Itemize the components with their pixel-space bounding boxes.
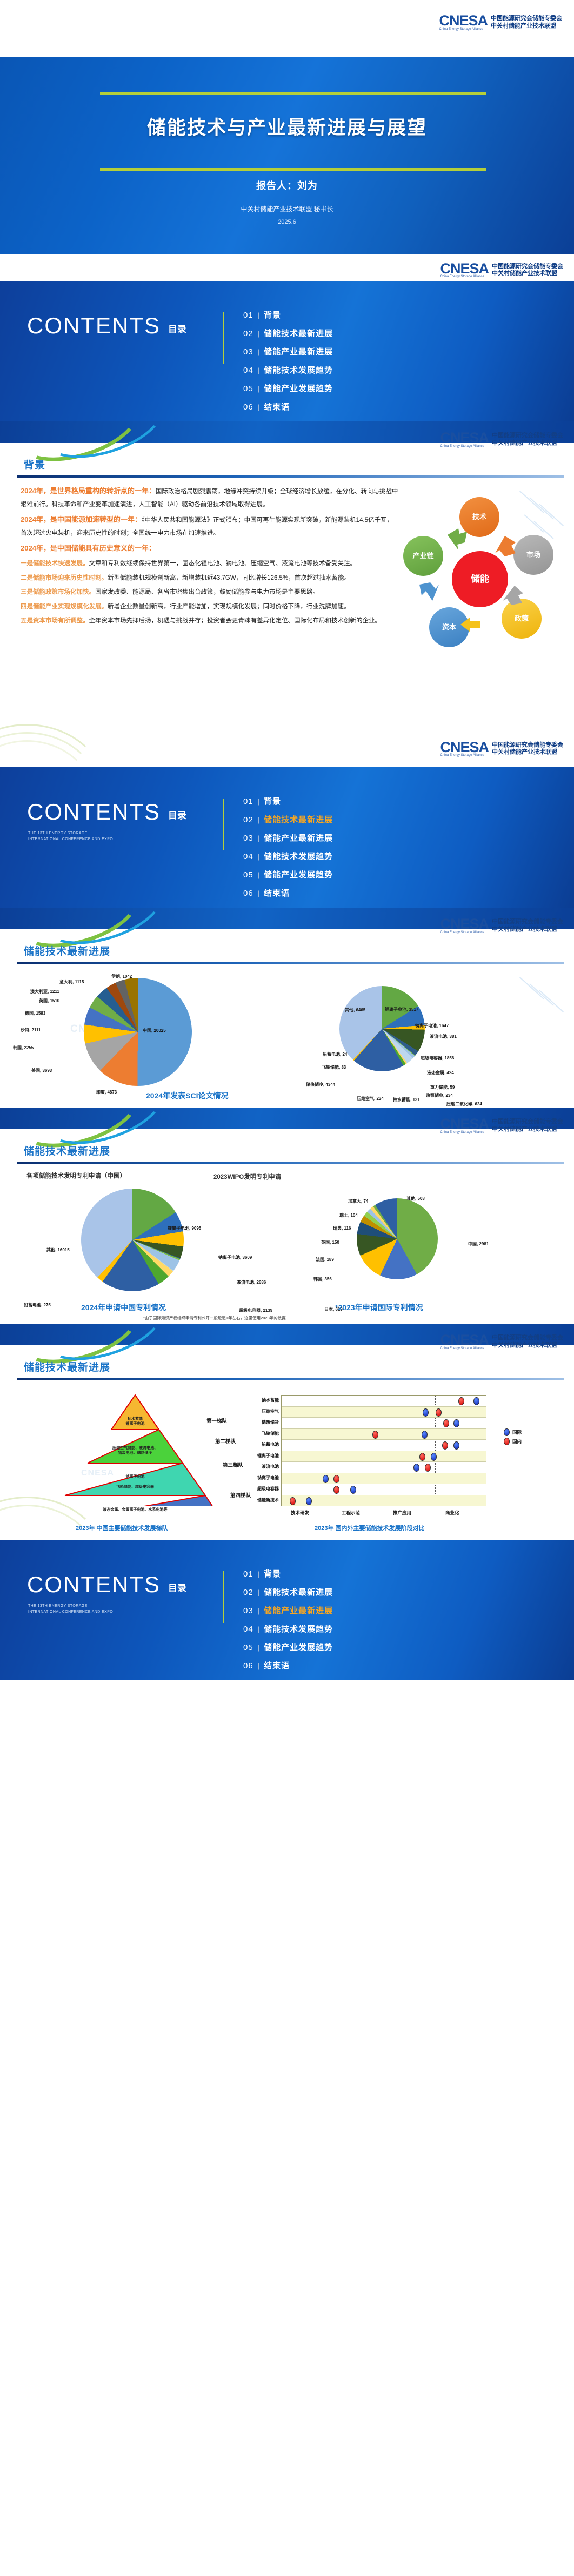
cnesa-logo: CNESAChina Energy Storage Alliance 中国能源研… <box>440 1117 563 1134</box>
presentation-date: 2025.6 <box>0 219 574 225</box>
toc-item-04[interactable]: 04 | 储能技术发展趋势 <box>243 850 333 862</box>
tech-progress-slide-2: CNESAChina Energy Storage Alliance 中国能源研… <box>0 1108 574 1324</box>
toc-label: 储能技术最新进展 <box>264 1586 333 1598</box>
pie-label-lead-acid: 铅蓄电池, 24 <box>323 1051 347 1057</box>
pie-label-switzerland: 瑞士, 104 <box>339 1212 358 1218</box>
green-arc-decoration <box>0 1475 114 1540</box>
circle-capital: 资本 <box>429 607 469 647</box>
point-body: 国家发改委、能源局、各省市密集出台政策，鼓励储能参与电力市场是主要思路。 <box>95 589 319 595</box>
toc-item-02[interactable]: 02 | 储能技术最新进展 <box>243 814 333 825</box>
pie-label-lead-acid: 铅蓄电池, 275 <box>24 1302 51 1308</box>
dot-international <box>423 1408 429 1417</box>
point-lead: 五是资本市场有所调整。 <box>21 618 89 624</box>
contents-slide-3: CONTENTS 目录 THE 13TH ENERGY STORAGE INTE… <box>0 1540 574 1680</box>
pie-label-thermal: 储热储冷, 4344 <box>306 1082 335 1088</box>
contents-subtitle: THE 13TH ENERGY STORAGE INTERNATIONAL CO… <box>28 831 113 842</box>
dot-international <box>323 1475 329 1483</box>
pie-label-heat-pump: 热泵储电, 234 <box>426 1092 453 1098</box>
matrix-legend: 国际 国内 <box>500 1424 525 1450</box>
slide-heading: 储能技术最新进展 <box>24 1359 110 1374</box>
toc-separator: | <box>258 1662 259 1670</box>
presenter-affiliation: 中关村储能产业技术联盟 秘书长 <box>0 204 574 213</box>
arc-decoration <box>0 281 130 421</box>
title-rule-bottom <box>100 168 486 171</box>
toc-item-02[interactable]: 02 | 储能技术最新进展 <box>243 1586 333 1598</box>
matrix-row: 超级电容器 <box>282 1484 486 1495</box>
contents-heading: CONTENTS 目录 <box>27 314 186 337</box>
heading-rule <box>17 1378 564 1380</box>
chart-caption-right: 2023年 国内外主要储能技术发展阶段对比 <box>315 1524 425 1532</box>
matrix-row: 抽水蓄能 <box>282 1396 486 1407</box>
toc-number: 06 <box>243 889 253 898</box>
toc-label: 结束语 <box>264 887 290 898</box>
point-body: 新型储能装机规模创新高，新增装机近43.7GW，同比增长126.5%，首次超过抽… <box>108 575 350 581</box>
toc-separator: | <box>258 816 259 824</box>
pie-body <box>81 1189 184 1291</box>
pyramid-tier-2-label: 第二梯队 <box>215 1437 236 1445</box>
pie-label-korea: 韩国, 2255 <box>13 1045 34 1051</box>
point-body: 新增企业数量创新高，行业产能增加，实现规模化发展；同时价格下降，行业洗牌加速。 <box>108 603 350 610</box>
chart-caption-right: *2023年申请国际专利情况 <box>335 1302 423 1313</box>
pie-label-italy: 意大利, 1115 <box>59 979 84 985</box>
toc-label: 储能产业发展趋势 <box>264 869 333 880</box>
contents-slide-2: CONTENTS 目录 THE 13TH ENERGY STORAGE INTE… <box>0 767 574 908</box>
diagonal-lines-decoration <box>505 492 570 562</box>
pie-label-india: 印度, 4873 <box>96 1089 117 1095</box>
toc-item-06[interactable]: 06 | 结束语 <box>243 401 333 412</box>
toc-number: 06 <box>243 403 253 412</box>
matrix-row-label: 超级电容器 <box>257 1486 279 1492</box>
tech-progress-slide-1: CNESAChina Energy Storage Alliance 中国能源研… <box>0 908 574 1108</box>
dot-domestic <box>443 1419 449 1427</box>
pie-label-compressed-air: 压缩空气, 234 <box>357 1096 384 1102</box>
pie-label-australia: 澳大利亚, 1211 <box>30 989 59 995</box>
toc-separator: | <box>258 853 259 861</box>
point-body: 文章和专利数继续保持世界第一，固态化锂电池、钠电池、压缩空气、液流电池等技术备受… <box>89 560 357 567</box>
cnesa-logo: CNESAChina Energy Storage Alliance 中国能源研… <box>440 1333 563 1350</box>
heading-rule <box>17 962 564 964</box>
dot-domestic <box>442 1441 448 1450</box>
dot-international <box>422 1431 428 1439</box>
toc-item-04[interactable]: 04 | 储能技术发展趋势 <box>243 364 333 375</box>
toc-label: 背景 <box>264 1568 281 1579</box>
matrix-x-label-0: 技术研发 <box>291 1510 309 1516</box>
pie-label-flow-battery: 液流电池, 381 <box>430 1034 457 1039</box>
contents-divider <box>223 312 224 364</box>
background-slide: CNESA China Energy Storage Alliance 中国能源… <box>0 421 574 767</box>
background-body-text: 2024年，是世界格局重构的转折点的一年：国际政治格局剧烈震荡，地缘冲突持续升级… <box>21 484 399 629</box>
paragraph-lead: 2024年，是中国能源加速转型的一年： <box>21 515 142 524</box>
toc-number: 04 <box>243 852 253 861</box>
toc-number: 05 <box>243 870 253 880</box>
matrix-row: 压缩空气 <box>282 1407 486 1418</box>
toc-separator: | <box>258 1625 259 1633</box>
matrix-row-label: 液流电池 <box>262 1464 279 1470</box>
background-point-1: 一是储能技术快速发展。文章和专利数继续保持世界第一，固态化锂电池、钠电池、压缩空… <box>21 558 399 571</box>
background-paragraph-1: 2024年，是世界格局重构的转折点的一年：国际政治格局剧烈震荡，地缘冲突持续升级… <box>21 484 399 511</box>
dot-domestic <box>436 1408 442 1417</box>
toc-label: 储能技术最新进展 <box>264 814 333 825</box>
toc-number: 02 <box>243 1588 253 1597</box>
toc-number: 05 <box>243 1643 253 1652</box>
toc-number: 02 <box>243 329 253 338</box>
cnesa-logo: CNESA China Energy Storage Alliance 中国能源… <box>440 741 563 757</box>
dot-international <box>306 1497 312 1505</box>
pie-label-pumped-hydro: 抽水蓄能, 131 <box>393 1097 420 1103</box>
contents-word: CONTENTS <box>27 1573 161 1596</box>
cnesa-chinese-name: 中国能源研究会储能专委会 中关村储能产业技术联盟 <box>492 1118 563 1133</box>
pyramid-tier-1-items: 抽水蓄能 锂离子电池 <box>43 1413 227 1430</box>
cnesa-chinese-name: 中国能源研究会储能专委会 中关村储能产业技术联盟 <box>492 432 563 447</box>
pie-label-france: 法国, 189 <box>316 1257 334 1263</box>
toc-item-04[interactable]: 04 | 储能技术发展趋势 <box>243 1623 333 1634</box>
matrix-row: 储热储冷 <box>282 1418 486 1429</box>
pie-label-co2: 压缩二氧化碳, 624 <box>446 1101 482 1107</box>
pie-label-sweden: 瑞典, 116 <box>333 1225 351 1231</box>
toc-number: 06 <box>243 1661 253 1671</box>
cnesa-logo: CNESAChina Energy Storage Alliance 中国能源研… <box>440 917 563 934</box>
toc-item-02[interactable]: 02 | 储能技术最新进展 <box>243 327 333 339</box>
cnesa-logo: CNESA China Energy Storage Alliance 中国能源… <box>439 14 562 31</box>
pie-label-flow-battery: 液流电池, 2686 <box>237 1279 266 1285</box>
contents-word: CONTENTS <box>27 801 161 823</box>
wave-blue-arc <box>35 421 171 471</box>
toc-separator: | <box>258 403 259 411</box>
pie-label-liquid-metal: 液态金属, 424 <box>427 1070 454 1076</box>
paragraph-lead: 2024年，是中国储能具有历史意义的一年： <box>21 544 156 552</box>
matrix-row-label: 压缩空气 <box>262 1408 279 1414</box>
toc-separator: | <box>258 797 259 806</box>
chart-caption-left: 2024年申请中国专利情况 <box>81 1302 166 1313</box>
toc-separator: | <box>258 348 259 356</box>
toc-label: 结束语 <box>264 401 290 412</box>
toc-number: 03 <box>243 834 253 843</box>
toc-item-06[interactable]: 06 | 结束语 <box>243 1660 333 1671</box>
dot-international <box>453 1441 459 1450</box>
page-title: 储能技术与产业最新进展与展望 <box>0 112 574 140</box>
chart-caption: 2024年发表SCI论文情况 <box>146 1090 228 1101</box>
pie-label-uk: 英国, 1510 <box>39 998 59 1004</box>
pie-label-uk: 英国, 150 <box>321 1239 339 1245</box>
table-of-contents: 01 | 背景 02 | 储能技术最新进展 03 | 储能产业最新进展 04 |… <box>243 309 333 419</box>
matrix-row: 储能新技术 <box>282 1495 486 1507</box>
pyramid-tier-4-label: 第四梯队 <box>230 1491 251 1499</box>
toc-label: 结束语 <box>264 1660 290 1671</box>
chart-footnote: *由于国际知识产权组织申请专利公开一般延迟1年左右，这里使用2023年的数据 <box>143 1315 286 1321</box>
dot-domestic <box>290 1497 296 1505</box>
cnesa-chinese-name: 中国能源研究会储能专委会 中关村储能产业技术联盟 <box>492 263 563 278</box>
circle-technology: 技术 <box>459 497 499 537</box>
matrix-row: 飞轮储能 <box>282 1429 486 1440</box>
pie-label-china: 中国, 2981 <box>468 1241 489 1247</box>
toc-label: 储能技术发展趋势 <box>264 1623 333 1634</box>
legend-label: 国际 <box>512 1429 522 1435</box>
cnesa-wordmark: CNESAChina Energy Storage Alliance <box>440 1333 489 1350</box>
point-body: 全年资本市场先抑后扬，机遇与挑战并存；投资者会更青睐有差异化定位、国际化布局和技… <box>89 618 382 624</box>
contents-subtitle: THE 13TH ENERGY STORAGE INTERNATIONAL CO… <box>28 1604 113 1615</box>
dot-international <box>350 1486 356 1494</box>
toc-label: 储能产业发展趋势 <box>264 1641 333 1653</box>
pie-chart-title: 各项储能技术发明专利申请（中国） <box>0 1171 363 1180</box>
tech-progress-slide-3: CNESAChina Energy Storage Alliance 中国能源研… <box>0 1324 574 1540</box>
toc-label: 储能技术发展趋势 <box>264 850 333 862</box>
toc-label: 背景 <box>264 795 281 807</box>
slide-heading: 储能技术最新进展 <box>24 1143 110 1158</box>
toc-item-05[interactable]: 05 | 储能产业发展趋势 <box>243 1641 333 1653</box>
matrix-row-label: 铅蓄电池 <box>262 1441 279 1447</box>
toc-item-01[interactable]: 01 | 背景 <box>243 1568 333 1579</box>
contents-heading: CONTENTS 目录 <box>27 1573 186 1596</box>
toc-item-03[interactable]: 03 | 储能产业最新进展 <box>243 832 333 843</box>
cnesa-wordmark: CNESA China Energy Storage Alliance <box>440 431 489 448</box>
contents-divider <box>223 1571 224 1623</box>
toc-label: 背景 <box>264 309 281 320</box>
dot-domestic <box>425 1464 431 1472</box>
slide-heading: 背景 <box>24 457 45 472</box>
cnesa-logo: CNESA China Energy Storage Alliance 中国能源… <box>440 262 563 279</box>
cnesa-wordmark: CNESA China Energy Storage Alliance <box>440 262 489 279</box>
pie-label-supercapacitor: 超级电容器, 2139 <box>239 1307 272 1313</box>
dot-international <box>413 1464 419 1472</box>
toc-number: 05 <box>243 384 253 393</box>
cnesa-wordmark: CNESAChina Energy Storage Alliance <box>440 1117 489 1134</box>
pie-label-china: 中国, 20025 <box>143 1028 166 1034</box>
toc-separator: | <box>258 1643 259 1652</box>
diagonal-lines-decoration <box>505 978 570 1048</box>
background-point-4: 四是储能产业实现规模化发展。新增企业数量创新高，行业产能增加，实现规模化发展；同… <box>21 601 399 614</box>
matrix-row: 铅蓄电池 <box>282 1440 486 1451</box>
toc-number: 03 <box>243 1606 253 1615</box>
legend-swatch-blue <box>504 1428 510 1436</box>
background-paragraph-2: 2024年，是中国能源加速转型的一年：《中华人民共和国能源法》正式颁布；中国可再… <box>21 513 399 540</box>
matrix-row-label: 抽水蓄能 <box>262 1397 279 1403</box>
legend-swatch-red <box>504 1438 510 1445</box>
cnesa-chinese-name: 中国能源研究会储能专委会 中关村储能产业技术联盟 <box>492 1334 563 1350</box>
table-of-contents: 01 | 背景 02 | 储能技术最新进展 03 | 储能产业最新进展 04 |… <box>243 1568 333 1678</box>
cnesa-chinese-name: 中国能源研究会储能专委会 中关村储能产业技术联盟 <box>492 742 563 757</box>
circle-policy: 政策 <box>502 599 542 639</box>
dot-domestic <box>372 1431 378 1439</box>
toc-item-05[interactable]: 05 | 储能产业发展趋势 <box>243 869 333 880</box>
cnesa-logo: CNESA China Energy Storage Alliance 中国能源… <box>440 431 563 448</box>
toc-label: 储能产业发展趋势 <box>264 383 333 394</box>
contents-heading: CONTENTS 目录 <box>27 801 186 823</box>
pie-body <box>339 986 425 1071</box>
toc-label: 储能产业最新进展 <box>264 832 333 843</box>
circle-center-storage: 储能 <box>452 551 508 607</box>
toc-number: 01 <box>243 311 253 320</box>
cnesa-wordmark: CNESA China Energy Storage Alliance <box>439 14 488 31</box>
dot-domestic <box>333 1475 339 1483</box>
legend-item-domestic: 国内 <box>504 1438 522 1445</box>
spacer-band-1: CNESA China Energy Storage Alliance 中国能源… <box>0 254 574 281</box>
pie-label-canada: 加拿大, 74 <box>348 1198 368 1204</box>
pyramid-tier-1-label: 第一梯队 <box>206 1417 227 1424</box>
pie-label-na-ion: 钠离子电池, 1647 <box>415 1023 449 1029</box>
toc-label: 储能产业最新进展 <box>264 346 333 357</box>
dot-international <box>431 1453 437 1461</box>
contents-word-cn: 目录 <box>168 1580 186 1596</box>
pyramid-tier-2-items: 压缩空气储能、液流电池、 铅炭电池、储热储冷 <box>43 1441 227 1460</box>
point-lead: 一是储能技术快速发展。 <box>21 560 89 567</box>
toc-separator: | <box>258 330 259 338</box>
pie-label-others: 其他, 508 <box>406 1196 425 1202</box>
toc-number: 01 <box>243 1569 253 1579</box>
matrix-row-label: 飞轮储能 <box>262 1431 279 1437</box>
pie-label-iran: 伊朗, 1042 <box>111 974 132 980</box>
cnesa-chinese-name: 中国能源研究会储能专委会 中关村储能产业技术联盟 <box>491 15 562 30</box>
toc-separator: | <box>258 871 259 879</box>
pyramid-tier-3-label: 第三梯队 <box>223 1461 243 1468</box>
matrix-row-label: 储热储冷 <box>262 1419 279 1425</box>
dot-domestic <box>419 1453 425 1461</box>
toc-number: 04 <box>243 366 253 375</box>
pie-label-saudi: 沙特, 2111 <box>21 1027 41 1033</box>
toc-number: 04 <box>243 1625 253 1634</box>
pie-body <box>357 1198 438 1279</box>
matrix-x-label-2: 推广应用 <box>393 1510 411 1516</box>
pie-label-korea: 韩国, 356 <box>313 1276 332 1282</box>
point-lead: 二是储能市场迎来历史性时刻。 <box>21 575 108 581</box>
toc-item-03[interactable]: 03 | 储能产业最新进展 <box>243 346 333 357</box>
matrix-row-label: 锂离子电池 <box>257 1453 279 1459</box>
toc-separator: | <box>258 1588 259 1596</box>
toc-separator: | <box>258 385 259 393</box>
toc-separator: | <box>258 834 259 842</box>
matrix-row: 液流电池 <box>282 1462 486 1473</box>
legend-item-international: 国际 <box>504 1428 522 1436</box>
matrix-x-label-1: 工程示范 <box>342 1510 360 1516</box>
toc-label: 储能技术发展趋势 <box>264 364 333 375</box>
background-point-2: 二是储能市场迎来历史性时刻。新型储能装机规模创新高，新增装机近43.7GW，同比… <box>21 572 399 585</box>
pie-label-flywheel: 飞轮储能, 83 <box>322 1064 346 1070</box>
pie-label-usa: 美国, 3693 <box>31 1068 52 1074</box>
contents-word-cn: 目录 <box>168 808 186 823</box>
toc-label: 储能产业最新进展 <box>264 1605 333 1616</box>
toc-item-03[interactable]: 03 | 储能产业最新进展 <box>243 1605 333 1616</box>
point-lead: 四是储能产业实现规模化发展。 <box>21 603 108 610</box>
toc-separator: | <box>258 311 259 319</box>
toc-number: 01 <box>243 797 253 806</box>
matrix-row-label: 储能新技术 <box>257 1497 279 1503</box>
dot-international <box>453 1419 459 1427</box>
toc-item-01[interactable]: 01 | 背景 <box>243 309 333 320</box>
table-of-contents: 01 | 背景 02 | 储能技术最新进展 03 | 储能产业最新进展 04 |… <box>243 795 333 905</box>
toc-separator: | <box>258 1570 259 1578</box>
toc-label: 储能技术最新进展 <box>264 327 333 339</box>
toc-number: 03 <box>243 347 253 357</box>
toc-separator: | <box>258 366 259 374</box>
pie-label-others: 其他, 16015 <box>46 1247 70 1253</box>
matrix-row-label: 钠离子电池 <box>257 1475 279 1481</box>
presenter-name: 报告人：刘为 <box>0 178 574 192</box>
pie-label-germany: 德国, 1583 <box>25 1010 45 1016</box>
pie-body <box>84 978 192 1086</box>
toc-item-06[interactable]: 06 | 结束语 <box>243 887 333 898</box>
background-point-3: 三是储能政策市场化加快。国家发改委、能源局、各省市密集出台政策，鼓励储能参与电力… <box>21 586 399 599</box>
point-lead: 三是储能政策市场化加快。 <box>21 589 95 595</box>
toc-separator: | <box>258 1607 259 1615</box>
toc-separator: | <box>258 889 259 897</box>
matrix-row: 钠离子电池 <box>282 1473 486 1485</box>
dot-domestic <box>458 1397 464 1405</box>
matrix-x-label-3: 商业化 <box>445 1510 459 1516</box>
heading-rule <box>17 475 564 478</box>
cnesa-wordmark: CNESAChina Energy Storage Alliance <box>440 917 489 934</box>
cnesa-wordmark-sub: China Energy Storage Alliance <box>439 28 488 31</box>
title-slide: CNESA China Energy Storage Alliance 中国能源… <box>0 0 574 254</box>
contents-word-cn: 目录 <box>168 321 186 337</box>
background-paragraph-3: 2024年，是中国储能具有历史意义的一年： <box>21 541 399 556</box>
background-point-5: 五是资本市场有所调整。全年资本市场先抑后扬，机遇与挑战并存；投资者会更青睐有差异… <box>21 615 399 628</box>
pie-label-gravity: 重力储能, 59 <box>430 1084 455 1090</box>
toc-item-05[interactable]: 05 | 储能产业发展趋势 <box>243 383 333 394</box>
cnesa-chinese-name: 中国能源研究会储能专委会 中关村储能产业技术联盟 <box>492 918 563 934</box>
contents-divider <box>223 799 224 850</box>
legend-label: 国内 <box>512 1438 522 1445</box>
circle-value-chain: 产业链 <box>403 536 443 576</box>
heading-rule <box>17 1162 564 1164</box>
slide-heading: 储能技术最新进展 <box>24 943 110 958</box>
title-rule-top <box>100 92 486 95</box>
contents-slide-1: CONTENTS 目录 01 | 背景 02 | 储能技术最新进展 03 | 储… <box>0 281 574 421</box>
technology-maturity-matrix: 抽水蓄能 压缩空气 储热储冷 飞轮储能 铅蓄电池 锂离子电池 <box>281 1395 486 1506</box>
pie-label-supercapacitor: 超级电容器, 1858 <box>421 1055 454 1061</box>
pie-label-others: 其他, 6465 <box>345 1007 365 1013</box>
pie-label-li-ion: 锂离子电池, 3517 <box>385 1007 418 1012</box>
paragraph-lead: 2024年，是世界格局重构的转折点的一年： <box>21 487 156 495</box>
cnesa-wordmark: CNESA China Energy Storage Alliance <box>440 741 489 757</box>
pie-chart-title: 2023WIPO发明专利申请 <box>213 1172 281 1181</box>
toc-number: 02 <box>243 815 253 824</box>
pie-label-li-ion: 锂离子电池, 9095 <box>168 1225 201 1231</box>
matrix-row: 锂离子电池 <box>282 1451 486 1463</box>
dot-international <box>473 1397 479 1405</box>
pie-label-na-ion: 钠离子电池, 3609 <box>218 1255 252 1260</box>
contents-word: CONTENTS <box>27 314 161 337</box>
toc-item-01[interactable]: 01 | 背景 <box>243 795 333 807</box>
green-arc-decoration <box>0 702 114 767</box>
dot-domestic <box>333 1486 339 1494</box>
